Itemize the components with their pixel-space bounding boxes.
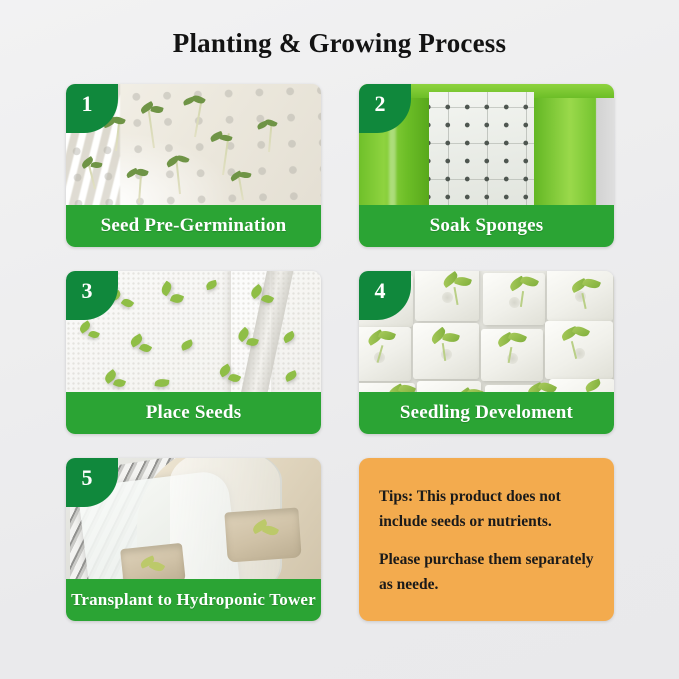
steps-grid: 1 Seed Pre-Germination 2 Soak Sponges [66,84,614,621]
step-card-2[interactable]: 2 Soak Sponges [359,84,614,247]
tips-box: Tips: This product does not include seed… [359,458,614,621]
page-title: Planting & Growing Process [0,28,679,59]
step-card-3[interactable]: 3 Place Seeds [66,271,321,434]
sprout [214,133,230,175]
step-label: Place Seeds [66,392,321,434]
sprout [260,120,276,152]
sponge-cube [547,271,613,321]
planting-pocket [224,507,301,562]
step-label: Soak Sponges [359,205,614,247]
sponge-cube [413,323,479,379]
sprout [86,159,102,189]
sprout [171,156,187,194]
step-card-1[interactable]: 1 Seed Pre-Germination [66,84,321,247]
tips-line-4: as neede. [379,572,594,597]
step-label: Seed Pre-Germination [66,205,321,247]
step-card-4[interactable]: 4 Seedling Develoment [359,271,614,434]
sprout [234,172,250,200]
tips-line-1: Tips: This product does not [379,484,594,509]
sprout [130,169,146,203]
step-card-5[interactable]: 5 Transplant to Hydroponic Tower [66,458,321,621]
step-label: Seedling Develoment [359,392,614,434]
step-label: Transplant to Hydroponic Tower [66,579,321,621]
tips-line-3: Please purchase them separately [379,547,594,572]
tips-line-2: include seeds or nutrients. [379,509,594,534]
sprout [186,97,202,137]
sprout [145,104,161,148]
